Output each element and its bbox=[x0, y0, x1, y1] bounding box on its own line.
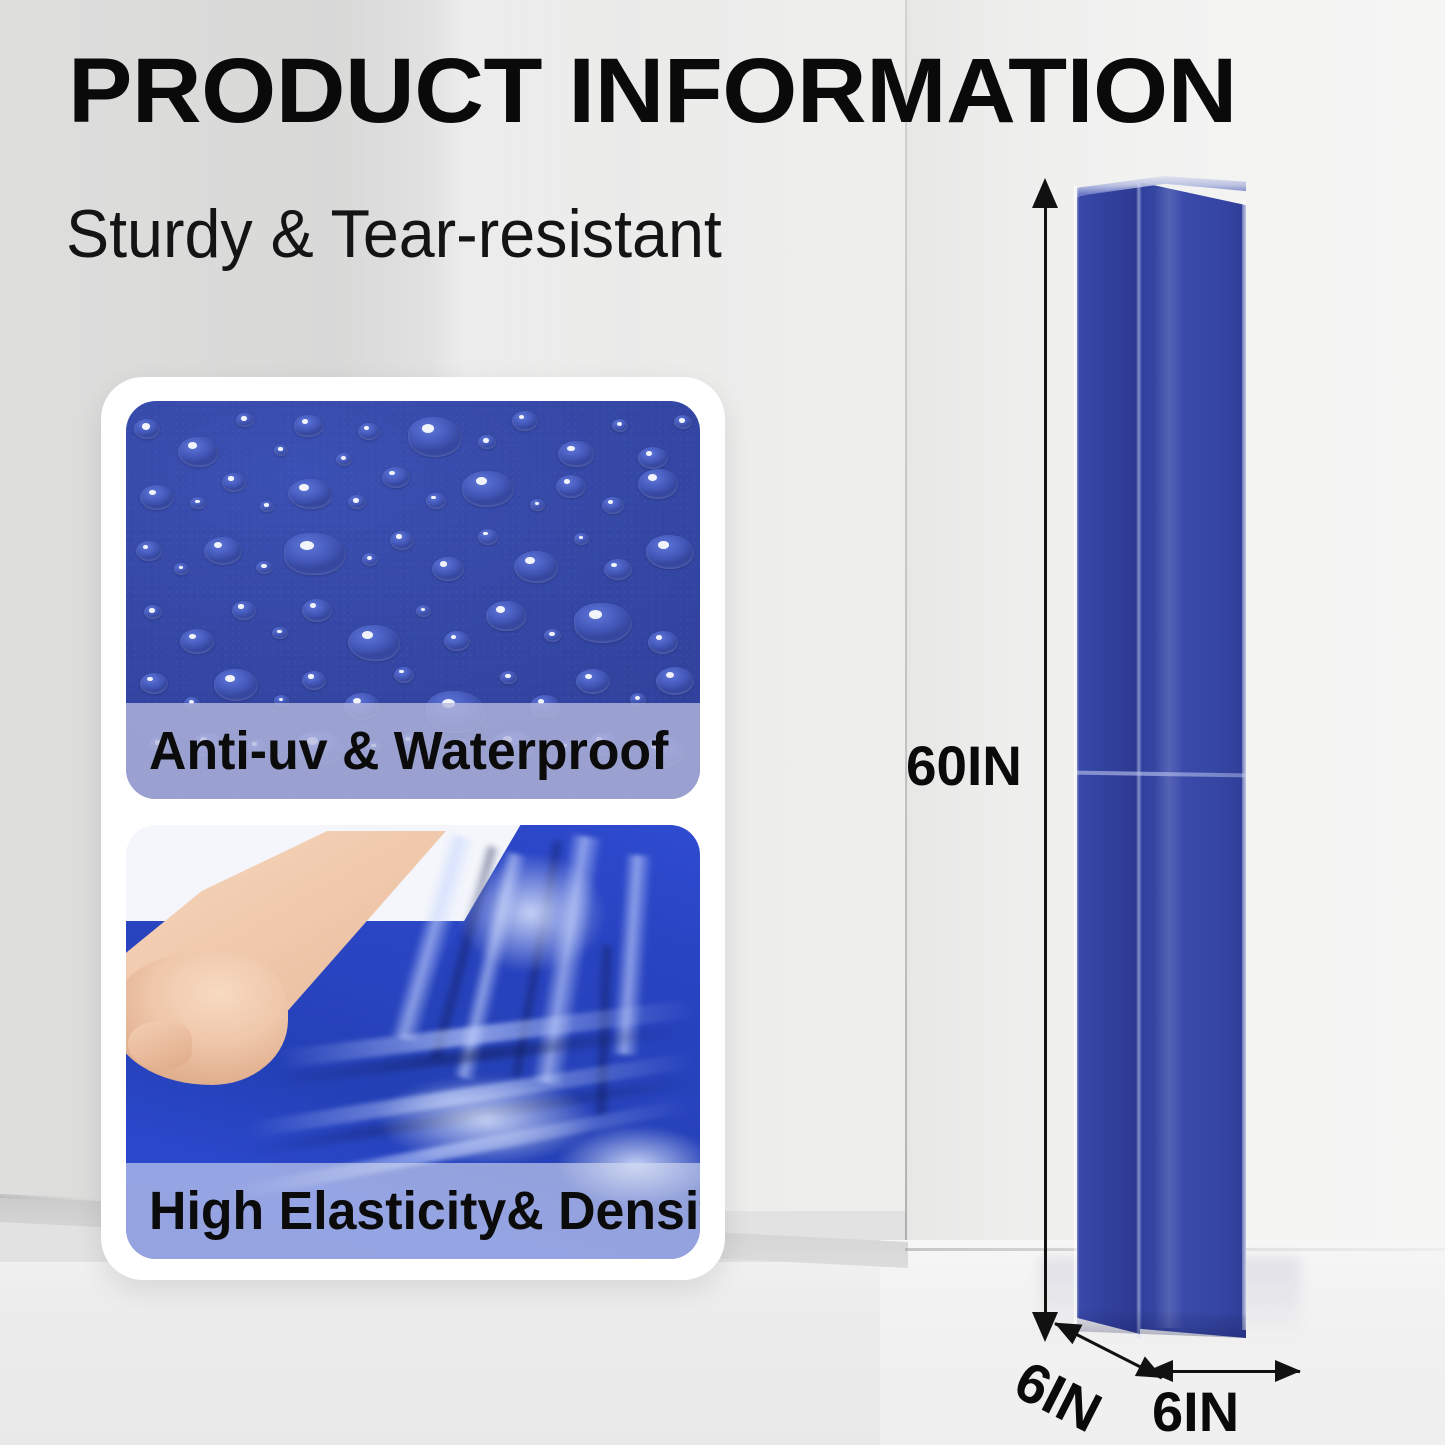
thumb bbox=[128, 1021, 192, 1069]
column-left-rim-highlight bbox=[1074, 186, 1079, 1332]
feature-panel-waterproof: Anti-uv & Waterproof bbox=[126, 401, 700, 799]
caption-text: High Elasticity& Density bbox=[126, 1183, 700, 1239]
caption-text: Anti-uv & Waterproof bbox=[126, 723, 668, 779]
panel-caption-waterproof: Anti-uv & Waterproof bbox=[126, 703, 700, 799]
panel-caption-elasticity: High Elasticity& Density bbox=[126, 1163, 700, 1259]
width-label: 6IN bbox=[1152, 1384, 1239, 1440]
column-right-rim-highlight bbox=[1242, 200, 1246, 1330]
column-corner-edge bbox=[1136, 182, 1142, 1338]
page-subtitle: Sturdy & Tear-resistant bbox=[66, 200, 722, 268]
wall-corner-seam bbox=[905, 0, 907, 1252]
width-dimension-arrow bbox=[1148, 1370, 1300, 1373]
product-information-infographic: PRODUCT INFORMATION Sturdy & Tear-resist… bbox=[0, 0, 1445, 1445]
column-side-face bbox=[1077, 184, 1140, 1334]
feature-card: Anti-uv & Waterproof bbox=[101, 377, 725, 1280]
page-title: PRODUCT INFORMATION bbox=[68, 45, 1237, 137]
feature-panel-elasticity: High Elasticity& Density bbox=[126, 825, 700, 1259]
column-sheen bbox=[1154, 188, 1184, 1328]
height-dimension-line bbox=[1044, 196, 1047, 1320]
height-label: 60IN bbox=[906, 738, 1022, 794]
product-column bbox=[1070, 168, 1260, 1338]
